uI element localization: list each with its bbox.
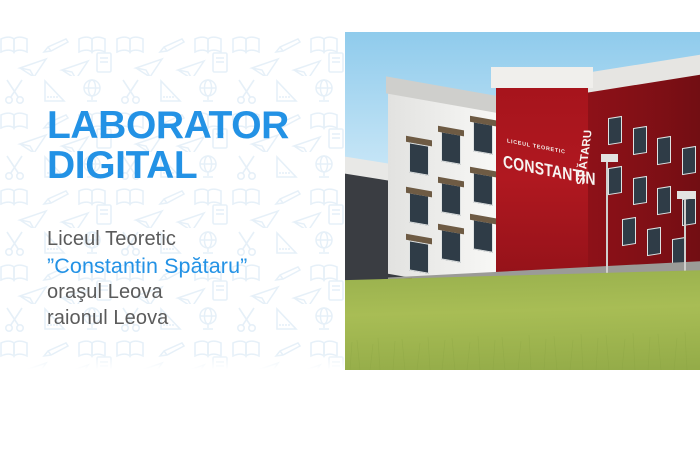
window <box>473 172 493 206</box>
pattern-fade-bottom <box>0 354 348 372</box>
building-front-roof <box>491 67 594 87</box>
window <box>608 115 622 144</box>
window <box>647 227 661 256</box>
window <box>657 136 671 165</box>
school-building-photo: LICEUL TEORETIC CONSTANTIN SPĂTARU <box>345 32 700 370</box>
window <box>657 186 671 215</box>
page-title: LABORATOR DIGITAL <box>47 106 337 186</box>
partner-logo-bar: Implementat de: <box>0 372 700 466</box>
title-line-1: LABORATOR <box>47 106 337 146</box>
window <box>622 217 636 246</box>
window <box>441 132 461 166</box>
window <box>409 142 429 176</box>
subtitle-line-city: oraşul Leova <box>47 280 347 306</box>
window <box>441 230 461 264</box>
subtitle-line-school-type: Liceul Teoretic <box>47 227 347 253</box>
window <box>633 176 647 205</box>
street-lamp-head <box>677 191 697 199</box>
title-line-2: DIGITAL <box>47 146 337 186</box>
window <box>441 182 461 216</box>
pattern-fade-top <box>0 0 348 34</box>
window <box>473 220 493 254</box>
building-front-red-panel <box>496 83 588 296</box>
subtitle-line-school-name: ”Constantin Spătaru” <box>47 253 347 281</box>
window <box>473 122 493 156</box>
subtitle-line-district: raionul Leova <box>47 306 347 332</box>
window <box>633 126 647 155</box>
street-lamp-head <box>601 154 619 163</box>
window <box>608 166 622 195</box>
grass-texture <box>345 269 700 370</box>
window <box>682 146 696 175</box>
school-subtitle: Liceul Teoretic ”Constantin Spătaru” ora… <box>47 227 347 331</box>
left-content-panel: LABORATOR DIGITAL Liceul Teoretic ”Const… <box>0 0 348 372</box>
window <box>409 193 429 227</box>
promo-banner: LABORATOR DIGITAL Liceul Teoretic ”Const… <box>0 0 700 466</box>
